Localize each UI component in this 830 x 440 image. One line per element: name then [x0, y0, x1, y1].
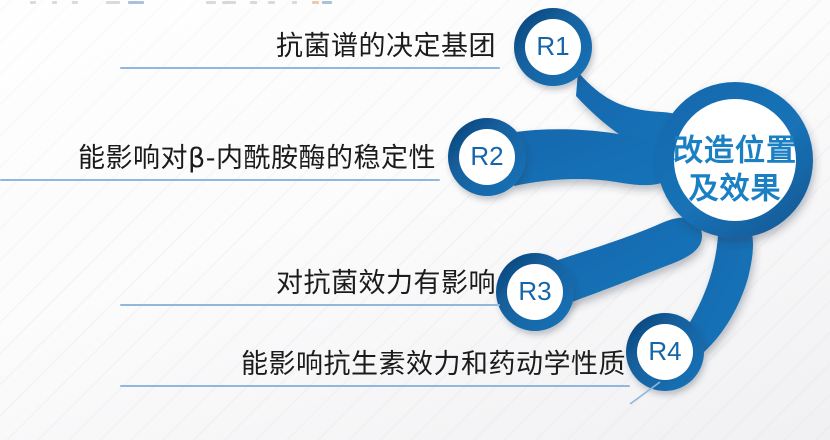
label-row-r3[interactable]: 对抗菌效力有影响: [120, 267, 500, 306]
node-r1-label: R1: [536, 31, 569, 61]
label-text-r3: 对抗菌效力有影响: [120, 267, 500, 304]
node-r2-label: R2: [470, 141, 503, 171]
label-underline-r2: [0, 179, 440, 181]
label-underline-r4: [120, 385, 630, 387]
label-underline-r3: [120, 304, 500, 306]
node-r4[interactable]: R4: [626, 313, 704, 391]
connector-arm-r3: [552, 218, 702, 304]
node-r3-label: R3: [518, 276, 551, 306]
label-row-r4[interactable]: 能影响抗生素效力和药动学性质: [120, 348, 630, 387]
center-node-line2: 及效果: [689, 172, 782, 207]
label-text-r4: 能影响抗生素效力和药动学性质: [120, 348, 630, 385]
node-r2[interactable]: R2: [448, 118, 526, 196]
label-row-r1[interactable]: 抗菌谱的决定基团: [120, 30, 500, 69]
center-node-line1: 改造位置: [673, 134, 797, 169]
label-row-r2[interactable]: 能影响对β-内酰胺酶的稳定性: [0, 142, 440, 181]
label-text-r1: 抗菌谱的决定基团: [120, 30, 500, 67]
node-r4-label: R4: [648, 336, 681, 366]
slide-canvas: 改造位置 及效果 R1 R2 R3 R4: [0, 0, 830, 440]
label-text-r2: 能影响对β-内酰胺酶的稳定性: [0, 142, 440, 179]
label-underline-r1: [120, 67, 500, 69]
node-r1[interactable]: R1: [514, 8, 592, 86]
center-node[interactable]: 改造位置 及效果: [657, 82, 813, 238]
node-r3[interactable]: R3: [496, 253, 574, 331]
